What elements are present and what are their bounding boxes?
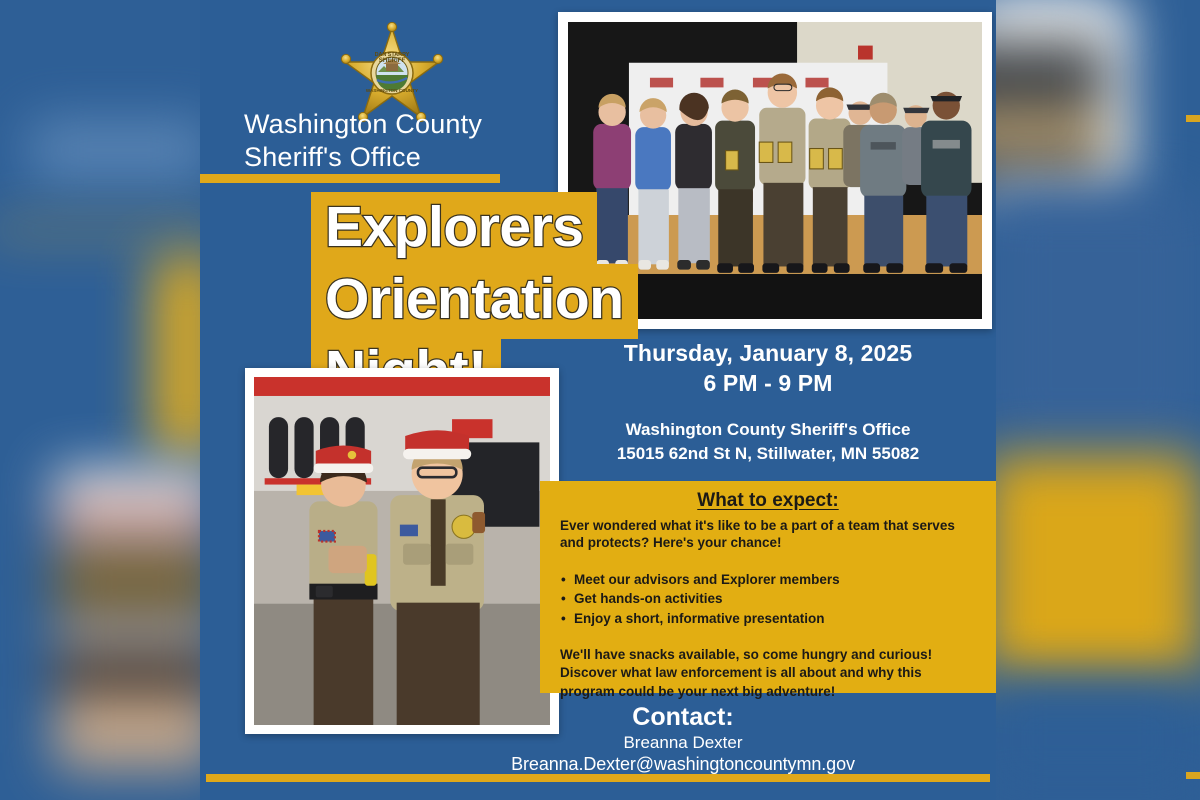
footer-divider (206, 774, 990, 782)
headline-line-2: Orientation (311, 264, 638, 339)
panel-bullet-list: Meet our advisors and Explorer members G… (574, 570, 976, 630)
background-blur-shape (990, 190, 1200, 450)
deputies-photo-caption: two-deputies-in-santa-hats-photo (254, 725, 255, 726)
background-blur-shape (30, 120, 210, 180)
badge-text-bottom: WASHINGTON COUNTY (444, 22, 445, 23)
list-item: Enjoy a short, informative presentation (574, 609, 976, 629)
event-details: Thursday, January 8, 2025 6 PM - 9 PM Wa… (540, 338, 996, 467)
event-date: Thursday, January 8, 2025 (540, 338, 996, 368)
panel-heading: What to expect: (540, 490, 996, 512)
event-time: 6 PM - 9 PM (540, 368, 996, 398)
contact-email[interactable]: Breanna.Dexter@washingtoncountymn.gov (370, 754, 996, 775)
background-blur-shape (55, 470, 215, 770)
background-blur-shape (985, 680, 1200, 800)
org-line-1: Washington County (244, 108, 574, 141)
panel-intro: Ever wondered what it's like to be a par… (560, 517, 976, 552)
event-venue: Washington County Sheriff's Office (540, 418, 996, 443)
what-to-expect-panel: What to expect: Ever wondered what it's … (540, 481, 996, 693)
badge-text-mid: SHERIFF (444, 22, 445, 23)
poster-image: DAN STARRY SHERIFF WASHINGTON COUNTY DAN… (0, 0, 1200, 800)
organization-name: Washington County Sheriff's Office (244, 108, 574, 175)
list-item: Meet our advisors and Explorer members (574, 570, 976, 590)
background-blur-shape (1186, 772, 1200, 779)
svg-text:SHERIFF: SHERIFF (379, 57, 406, 64)
panel-closing: We'll have snacks available, so come hun… (560, 646, 976, 701)
headline-line-1: Explorers (311, 192, 597, 267)
org-line-2: Sheriff's Office (244, 141, 574, 174)
svg-text:WASHINGTON COUNTY: WASHINGTON COUNTY (366, 88, 418, 93)
header-divider (200, 174, 500, 183)
background-blur-shape (1186, 115, 1200, 122)
contact-block: Contact: Breanna Dexter Breanna.Dexter@w… (370, 703, 996, 775)
flyer: DAN STARRY SHERIFF WASHINGTON COUNTY DAN… (200, 0, 996, 800)
event-address: 15015 62nd St N, Stillwater, MN 55082 (540, 442, 996, 467)
badge-text-top: DAN STARRY (444, 22, 445, 23)
list-item: Get hands-on activities (574, 589, 976, 609)
background-blur-shape (985, 455, 1200, 680)
deputies-photo: two-deputies-in-santa-hats-photo (245, 368, 559, 734)
background-blur-shape (0, 225, 220, 234)
contact-heading: Contact: (370, 703, 996, 732)
contact-name: Breanna Dexter (370, 733, 996, 753)
